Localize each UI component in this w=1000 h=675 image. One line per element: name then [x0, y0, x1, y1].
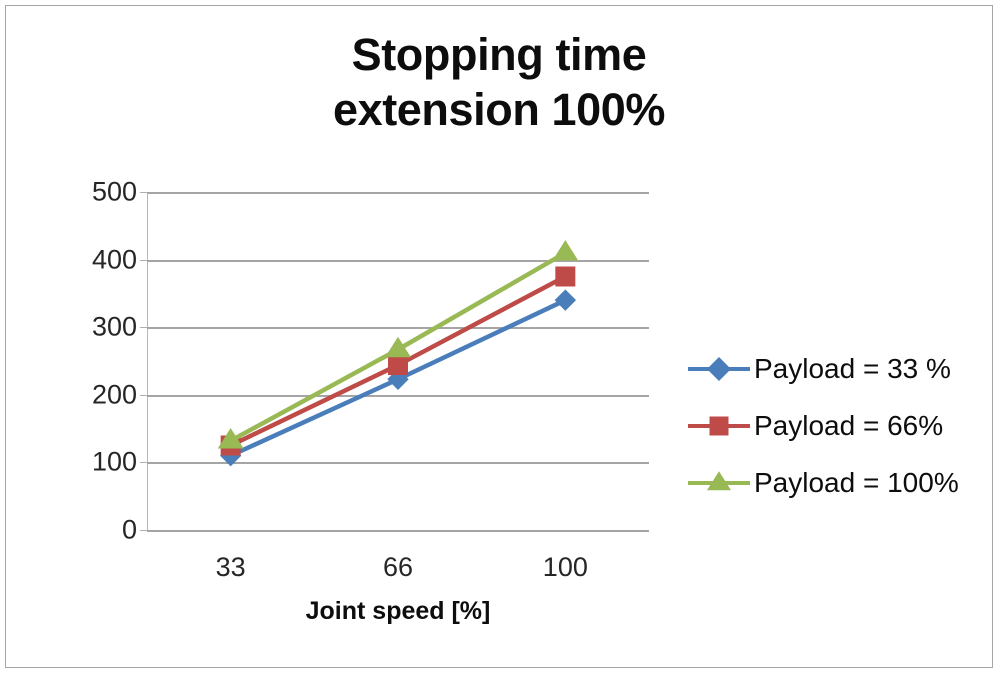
gridline	[147, 260, 649, 262]
gridline	[147, 192, 649, 194]
chart-legend: Payload = 33 %Payload = 66%Payload = 100…	[688, 340, 988, 511]
y-axis-tick-label: 500	[57, 177, 137, 208]
legend-marker-diamond-icon	[707, 356, 731, 380]
y-axis-tick-label: 0	[57, 515, 137, 546]
legend-swatch	[688, 356, 750, 382]
x-axis-title: Joint speed [%]	[147, 597, 649, 626]
y-axis-tick	[140, 192, 147, 193]
legend-marker-square-icon	[710, 416, 729, 435]
chart-title: Stopping time extension 100%	[6, 28, 992, 138]
legend-item[interactable]: Payload = 33 %	[688, 340, 988, 397]
plot-area: 0100200300400500	[147, 192, 649, 530]
y-axis-tick-label: 400	[57, 244, 137, 275]
gridline	[147, 530, 649, 532]
legend-label: Payload = 100%	[754, 467, 959, 499]
x-axis-tick-label: 66	[383, 552, 413, 583]
legend-item[interactable]: Payload = 66%	[688, 397, 988, 454]
gridline	[147, 395, 649, 397]
chart-title-line-2: extension 100%	[6, 83, 992, 138]
legend-marker-triangle-icon	[707, 471, 731, 490]
y-axis-tick-label: 200	[57, 379, 137, 410]
y-axis-tick-label: 100	[57, 447, 137, 478]
y-axis-tick-label: 300	[57, 312, 137, 343]
gridline	[147, 327, 649, 329]
chart-title-line-1: Stopping time	[6, 28, 992, 83]
x-axis-tick-label: 100	[543, 552, 588, 583]
legend-label: Payload = 66%	[754, 410, 943, 442]
y-axis-tick	[140, 395, 147, 396]
chart-screenshot: Stopping time extension 100% Time [ms] 0…	[0, 0, 1000, 675]
x-axis-tick-label: 33	[216, 552, 246, 583]
chart-container: Stopping time extension 100% Time [ms] 0…	[6, 6, 992, 667]
y-axis-tick	[140, 462, 147, 463]
legend-swatch	[688, 413, 750, 439]
legend-item[interactable]: Payload = 100%	[688, 454, 988, 511]
y-axis-tick	[140, 327, 147, 328]
gridline	[147, 462, 649, 464]
y-axis-line	[147, 192, 148, 530]
y-axis-tick	[140, 530, 147, 531]
legend-swatch	[688, 470, 750, 496]
y-axis-tick	[140, 260, 147, 261]
legend-label: Payload = 33 %	[754, 353, 951, 385]
